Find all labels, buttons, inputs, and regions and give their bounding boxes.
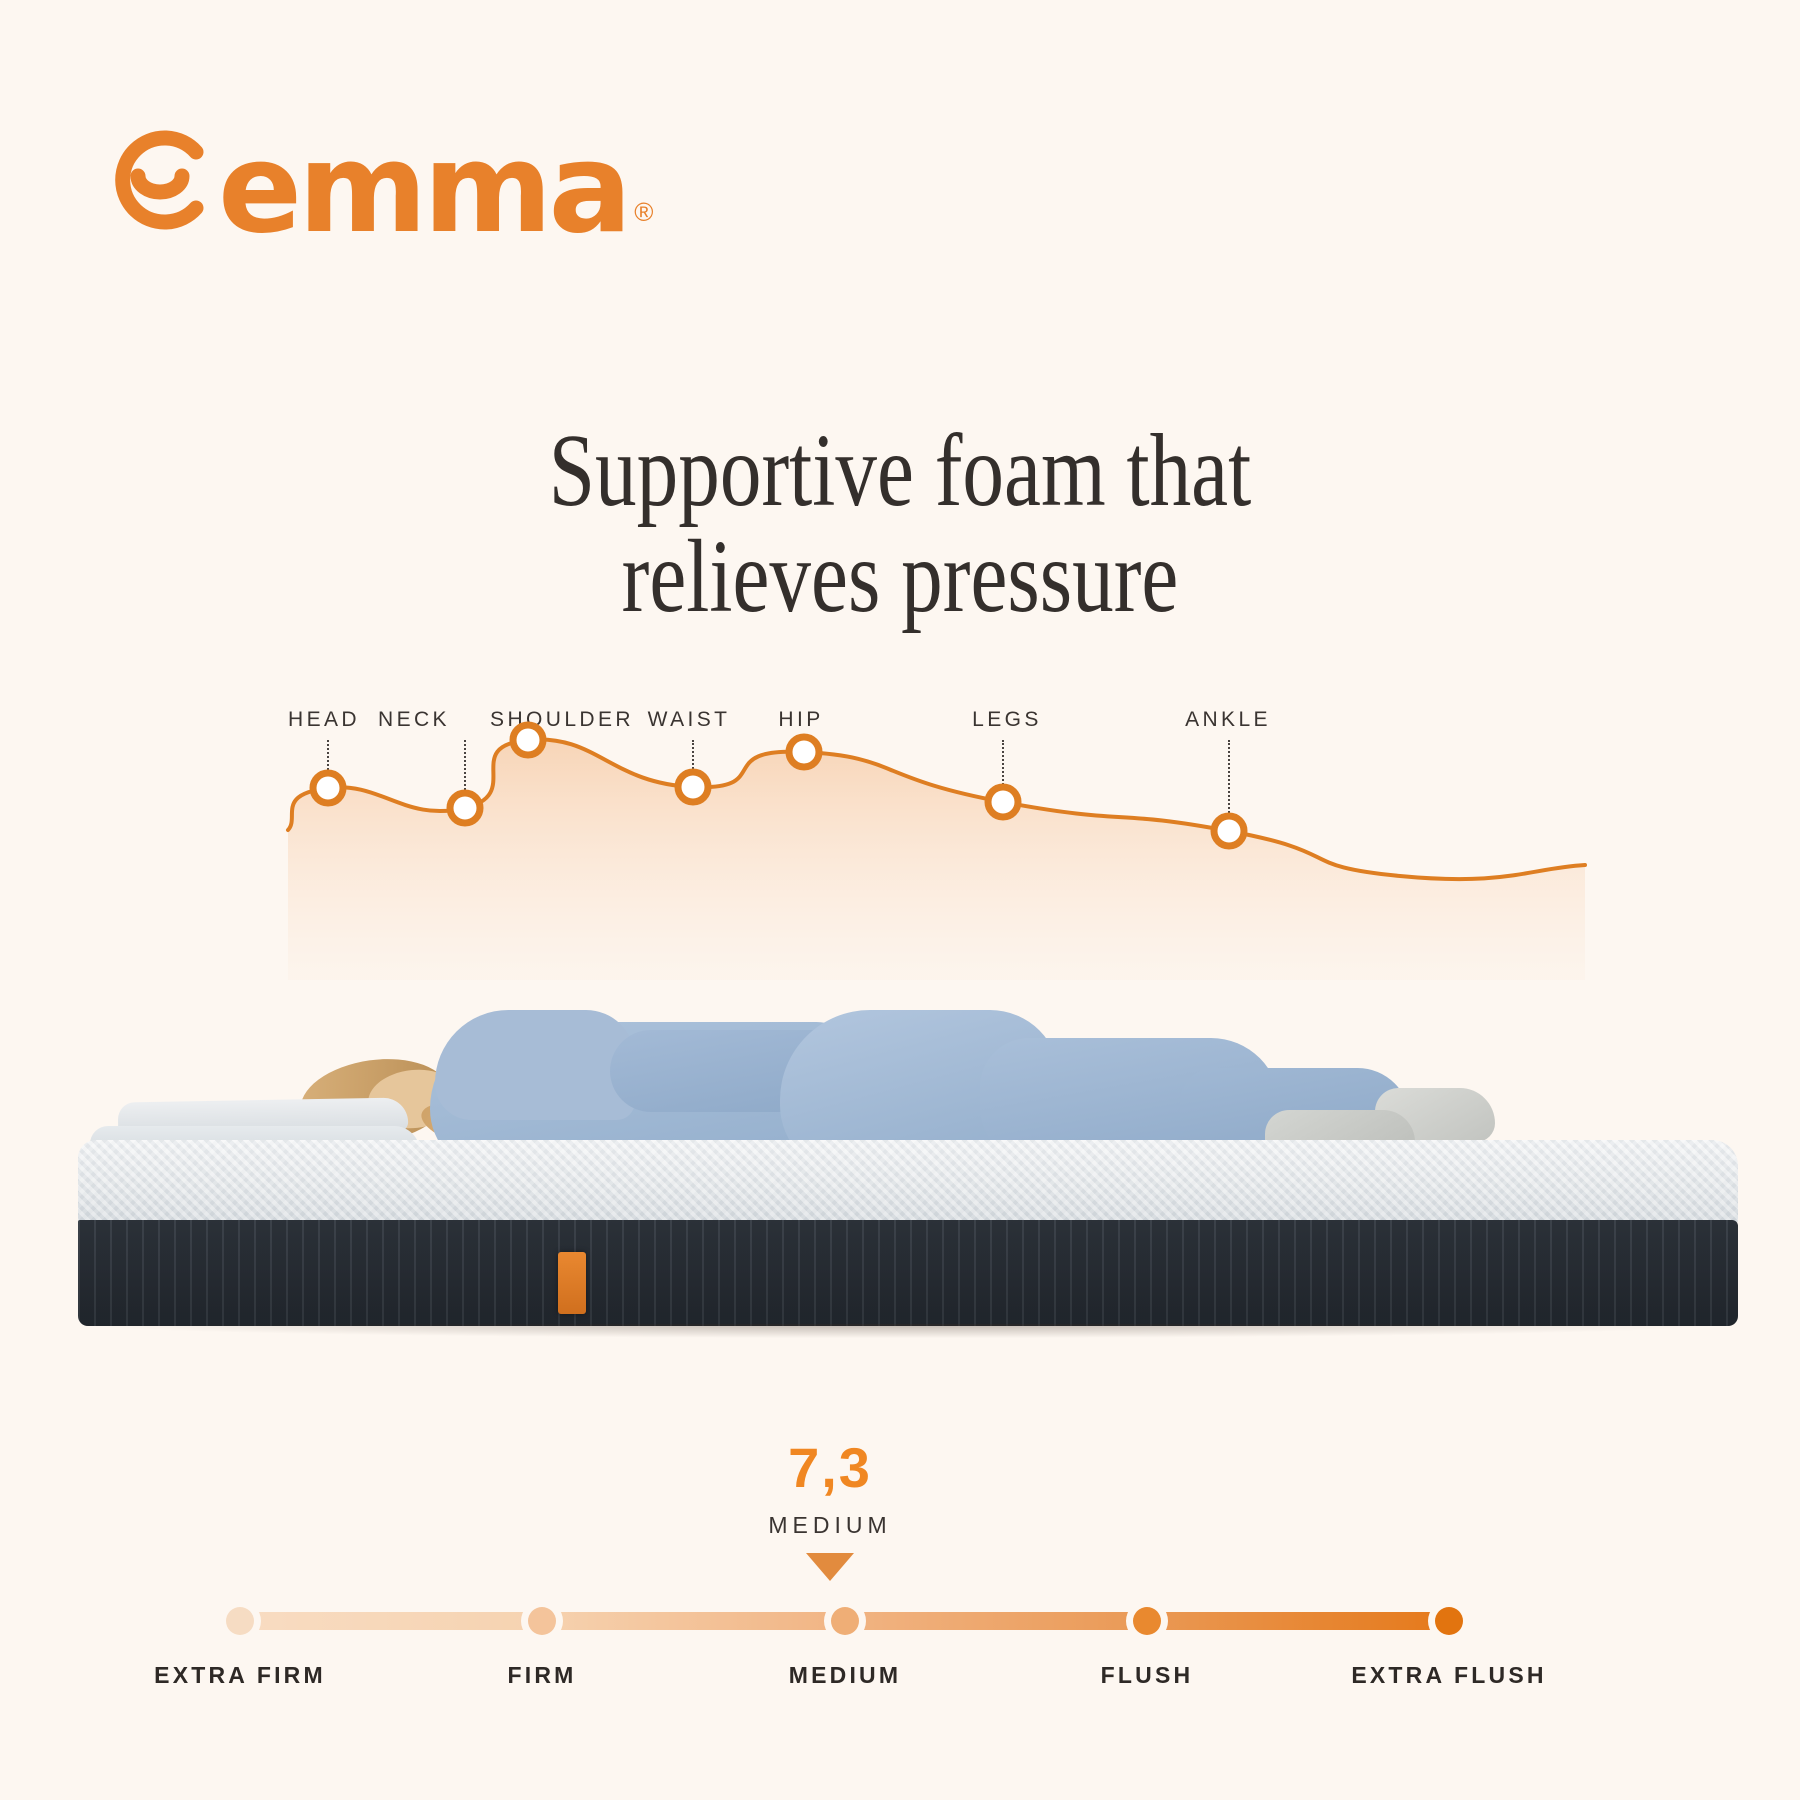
pressure-point-legs[interactable] — [988, 787, 1018, 817]
mattress-shadow — [88, 1324, 1715, 1338]
pressure-point-waist[interactable] — [678, 772, 708, 802]
emma-tag-icon — [558, 1252, 586, 1314]
sleeping-person — [280, 910, 1430, 1160]
firmness-bar-labels: EXTRA FIRMFIRMMEDIUMFLUSHEXTRA FLUSH — [0, 1662, 1800, 1702]
firmness-scale: 7,3 MEDIUM EXTRA FIRMFIRMMEDIUMFLUSHEXTR… — [0, 1440, 1800, 1760]
firmness-bar[interactable] — [240, 1608, 1450, 1634]
firmness-dot-firm[interactable] — [528, 1607, 556, 1635]
firmness-dot-medium[interactable] — [831, 1607, 859, 1635]
pressure-point-head[interactable] — [313, 773, 343, 803]
product-photo — [0, 940, 1800, 1360]
firmness-label-firm: FIRM — [507, 1662, 576, 1689]
pressure-point-neck[interactable] — [450, 793, 480, 823]
firmness-score-value: 7,3 — [630, 1440, 1030, 1496]
firmness-score-label: MEDIUM — [630, 1512, 1030, 1539]
mattress-cover — [78, 1140, 1738, 1224]
emma-logo[interactable]: emma ® — [108, 128, 653, 232]
firmness-dot-flush[interactable] — [1133, 1607, 1161, 1635]
firmness-score: 7,3 MEDIUM — [630, 1440, 1030, 1581]
page-root: emma ® Supportive foam that relieves pre… — [0, 0, 1800, 1800]
pressure-point-ankle[interactable] — [1214, 816, 1244, 846]
registered-mark-icon: ® — [634, 197, 653, 228]
firmness-label-medium: MEDIUM — [789, 1662, 901, 1689]
firmness-pointer-icon — [806, 1553, 854, 1581]
pressure-point-shoulder[interactable] — [513, 725, 543, 755]
emma-logo-wordmark: emma — [218, 141, 628, 238]
firmness-label-extra-flush: EXTRA FLUSH — [1351, 1662, 1546, 1689]
firmness-label-extra-firm: EXTRA FIRM — [154, 1662, 326, 1689]
mattress-base — [78, 1220, 1738, 1326]
headline-line-1: Supportive foam that — [180, 418, 1620, 524]
mattress — [78, 1140, 1738, 1336]
page-title: Supportive foam that relieves pressure — [180, 418, 1620, 630]
headline-line-2: relieves pressure — [180, 524, 1620, 630]
firmness-dot-extra-firm[interactable] — [226, 1607, 254, 1635]
firmness-dot-extra-flush[interactable] — [1435, 1607, 1463, 1635]
emma-logo-e-icon — [108, 128, 212, 232]
pressure-point-hip[interactable] — [789, 737, 819, 767]
firmness-label-flush: FLUSH — [1101, 1662, 1194, 1689]
person-shoulder — [435, 1010, 635, 1120]
